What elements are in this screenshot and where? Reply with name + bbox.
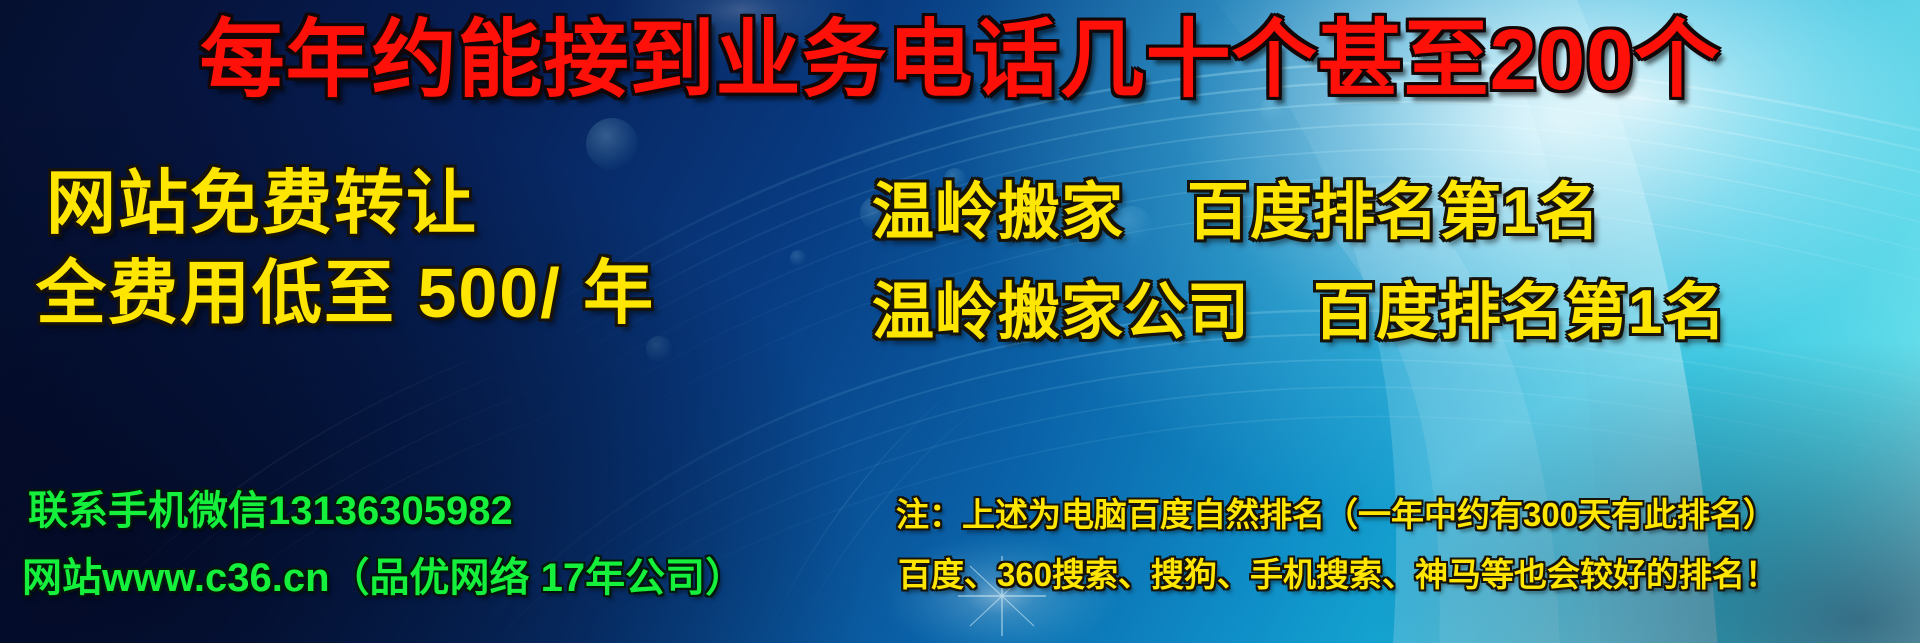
bokeh-dot — [790, 250, 806, 266]
advertisement-banner: 每年约能接到业务电话几十个甚至200个 网站免费转让 全费用低至 500/ 年 … — [0, 0, 1920, 643]
note-line-1: 注：上述为电脑百度自然排名（一年中约有300天有此排名） — [896, 498, 1776, 531]
contact-website: 网站www.c36.cn（品优网络 17年公司） — [22, 558, 745, 598]
bokeh-dot — [646, 336, 672, 362]
note-line-2: 百度、360搜索、搜狗、手机搜索、神马等也会较好的排名！ — [898, 558, 1778, 591]
contact-phone-wechat: 联系手机微信13136305982 — [28, 491, 513, 531]
offer-line-2: 全费用低至 500/ 年 — [36, 258, 655, 328]
ranking-line-1: 温岭搬家 百度排名第1名 — [872, 182, 1600, 244]
bokeh-dot — [586, 118, 638, 170]
ranking-line-2: 温岭搬家公司 百度排名第1名 — [872, 282, 1726, 344]
offer-line-1: 网站免费转让 — [46, 168, 478, 238]
headline-text: 每年约能接到业务电话几十个甚至200个 — [0, 18, 1920, 103]
